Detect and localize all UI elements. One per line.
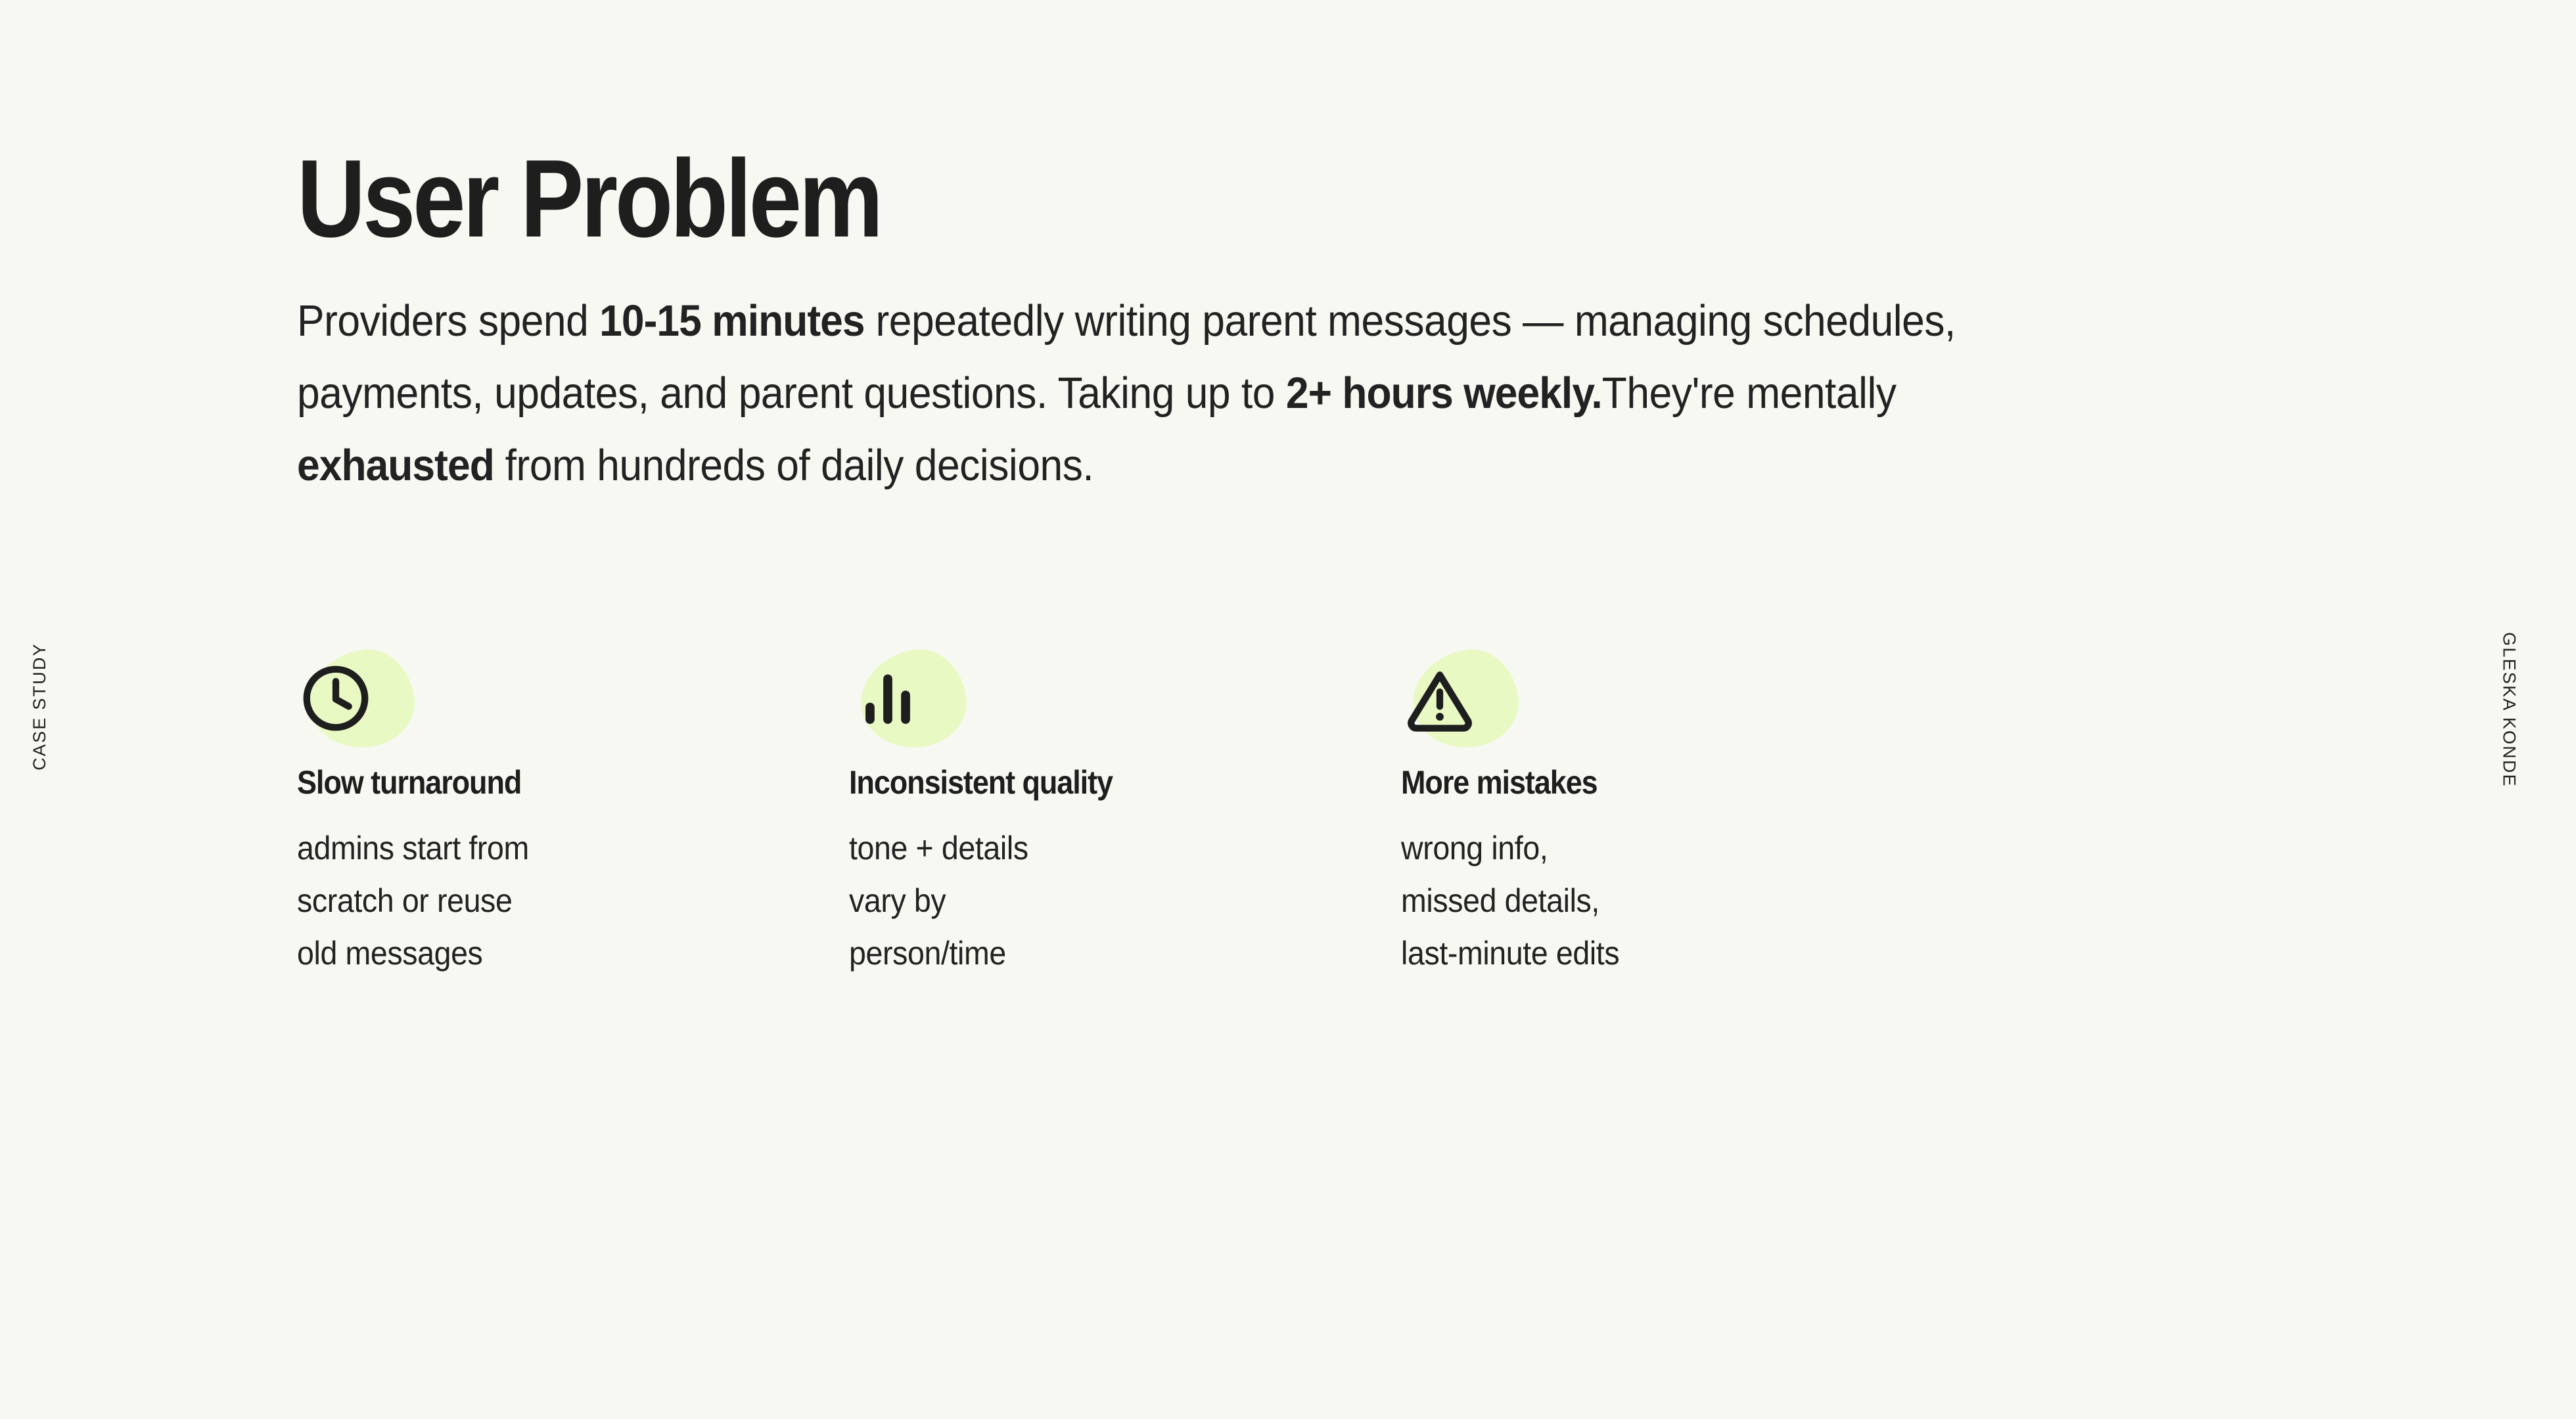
slide-content: User Problem Providers spend 10-15 minut…	[297, 0, 2400, 980]
card-body: tone + details vary by person/time	[849, 822, 1362, 980]
clock-icon	[297, 660, 375, 737]
case-study-label: CASE STUDY	[30, 642, 50, 771]
page-title: User Problem	[297, 0, 2105, 254]
problem-card-list: Slow turnaround admins start from scratc…	[297, 502, 2400, 980]
card-body: wrong info, missed details, last-minute …	[1401, 822, 1914, 980]
intro-highlight-exhausted: exhausted	[297, 441, 494, 490]
card-icon-wrap	[849, 648, 1000, 746]
intro-segment-3: They're mentally	[1602, 369, 1897, 418]
intro-segment-4: from hundreds of daily decisions.	[494, 441, 1093, 490]
card-icon-wrap	[297, 648, 448, 746]
intro-highlight-hours: 2+ hours weekly.	[1286, 369, 1602, 418]
problem-card: Slow turnaround admins start from scratc…	[297, 648, 849, 980]
problem-card: Inconsistent quality tone + details vary…	[849, 648, 1401, 980]
warning-triangle-icon	[1401, 660, 1479, 737]
intro-segment-1: Providers spend	[297, 296, 599, 346]
card-body: admins start from scratch or reuse old m…	[297, 822, 810, 980]
intro-paragraph: Providers spend 10-15 minutes repeatedly…	[297, 254, 2088, 502]
problem-card: More mistakes wrong info, missed details…	[1401, 648, 1953, 980]
card-title: Inconsistent quality	[849, 765, 1346, 801]
intro-highlight-minutes: 10-15 minutes	[599, 296, 864, 346]
brand-label: GLESKA KONDE	[2499, 632, 2519, 787]
card-title: Slow turnaround	[297, 765, 794, 801]
bar-chart-icon	[849, 660, 927, 737]
card-icon-wrap	[1401, 648, 1552, 746]
card-title: More mistakes	[1401, 765, 1898, 801]
